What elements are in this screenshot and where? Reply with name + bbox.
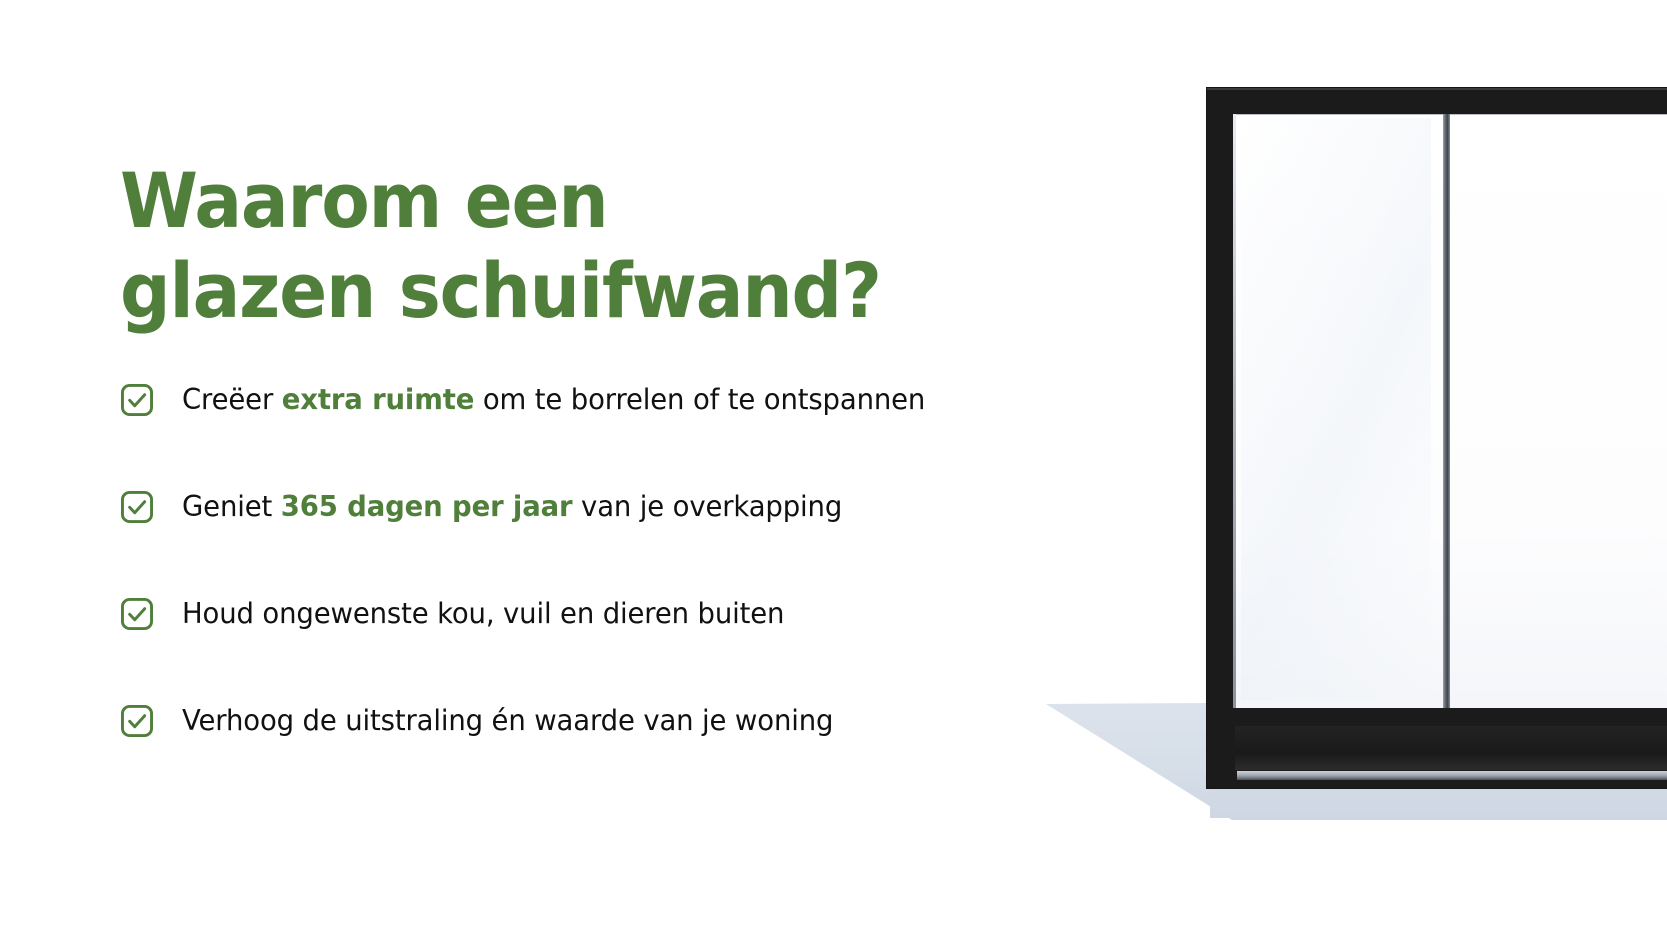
benefit-plain: Geniet: [182, 490, 281, 523]
sliding-door-frame: [1207, 88, 1667, 788]
benefit-item: Houd ongewenste kou, vuil en dieren buit…: [120, 590, 1080, 638]
checkbox-checked-icon: [120, 704, 154, 738]
checkbox-checked-icon: [120, 490, 154, 524]
benefit-item-label: Creëer extra ruimte om te borrelen of te…: [182, 383, 925, 417]
left-jamb-highlight: [1233, 114, 1236, 708]
vertical-mullion: [1443, 114, 1450, 708]
benefit-item: Creëer extra ruimte om te borrelen of te…: [120, 376, 1080, 424]
bottom-rail: [1235, 726, 1667, 770]
checkbox-checked-icon: [120, 597, 154, 631]
headline-line-1: Waarom een: [120, 156, 920, 246]
benefit-plain: van je overkapping: [572, 490, 842, 523]
benefit-plain: om te borrelen of te ontspannen: [474, 383, 925, 416]
threshold-sill: [1237, 771, 1667, 780]
headline-line-2: glazen schuifwand?: [120, 246, 920, 336]
benefit-item-label: Houd ongewenste kou, vuil en dieren buit…: [182, 597, 784, 631]
benefit-emphasis: 365 dagen per jaar: [281, 490, 573, 523]
benefit-item-label: Verhoog de uitstraling én waarde van je …: [182, 704, 833, 738]
benefit-plain: Verhoog de uitstraling én waarde van je …: [182, 704, 833, 737]
benefit-item: Geniet 365 dagen per jaar van je overkap…: [120, 483, 1080, 531]
checkbox-checked-icon: [120, 383, 154, 417]
benefit-list: Creëer extra ruimte om te borrelen of te…: [120, 376, 1080, 745]
glass-panels: [1235, 114, 1667, 708]
benefit-plain: Creëer: [182, 383, 282, 416]
benefit-item: Verhoog de uitstraling én waarde van je …: [120, 697, 1080, 745]
page-title: Waarom een glazen schuifwand?: [120, 156, 920, 335]
benefit-item-label: Geniet 365 dagen per jaar van je overkap…: [182, 490, 842, 524]
benefit-emphasis: extra ruimte: [282, 383, 475, 416]
product-image: [1000, 0, 1667, 938]
benefit-plain: Houd ongewenste kou, vuil en dieren buit…: [182, 597, 784, 630]
